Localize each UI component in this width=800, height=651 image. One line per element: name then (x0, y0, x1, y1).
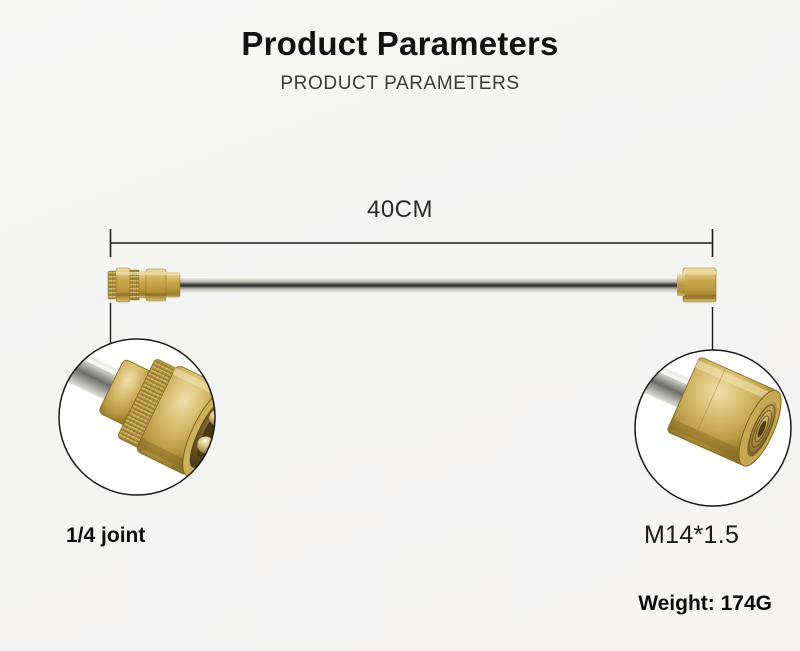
callout-circle-left (36, 336, 244, 495)
dimension-line-40cm (110, 229, 713, 257)
dimension-label-40cm: 40CM (0, 196, 800, 224)
callout-circle-right (597, 326, 791, 506)
weight-label: Weight: 174G (638, 592, 772, 616)
product-diagram (0, 0, 800, 651)
callout-label-left: 1/4 joint (66, 524, 145, 548)
callout-label-right: M14*1.5 (644, 521, 739, 550)
lance-right-nut (677, 268, 716, 302)
product-lance (108, 268, 716, 302)
lance-left-fitting (108, 268, 180, 302)
